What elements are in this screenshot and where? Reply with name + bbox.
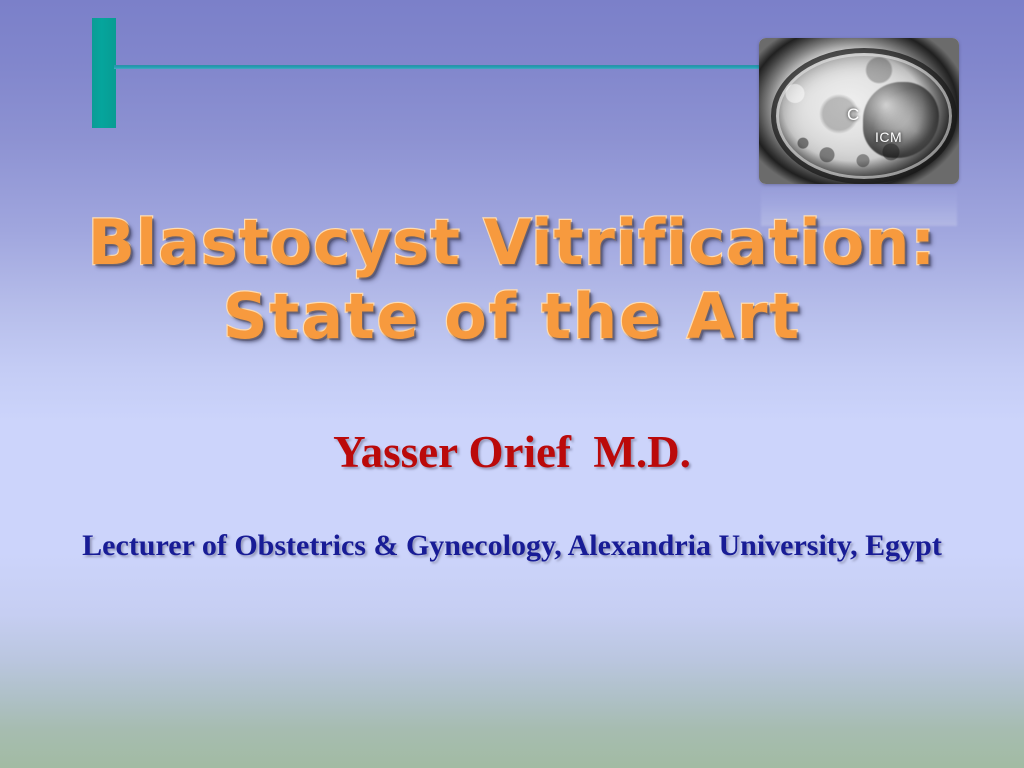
page-title: Blastocyst Vitrification: State of the A… (0, 206, 1024, 354)
horizontal-rule-decoration (114, 65, 762, 69)
cavity-label: C (847, 105, 859, 125)
presenter-affiliation: Lecturer of Obstetrics & Gynecology, Ale… (62, 524, 962, 568)
accent-bar-decoration (92, 18, 116, 128)
title-slide: C ICM Blastocyst Vitrification: State of… (0, 0, 1024, 768)
title-line-2: State of the Art (0, 280, 1024, 354)
icm-label: ICM (875, 129, 902, 145)
presenter-name: Yasser Orief M.D. (0, 424, 1024, 480)
micrograph-image: C ICM (759, 38, 959, 184)
title-line-1: Blastocyst Vitrification: (0, 206, 1024, 280)
blastocyst-micrograph-figure: C ICM (759, 38, 959, 184)
